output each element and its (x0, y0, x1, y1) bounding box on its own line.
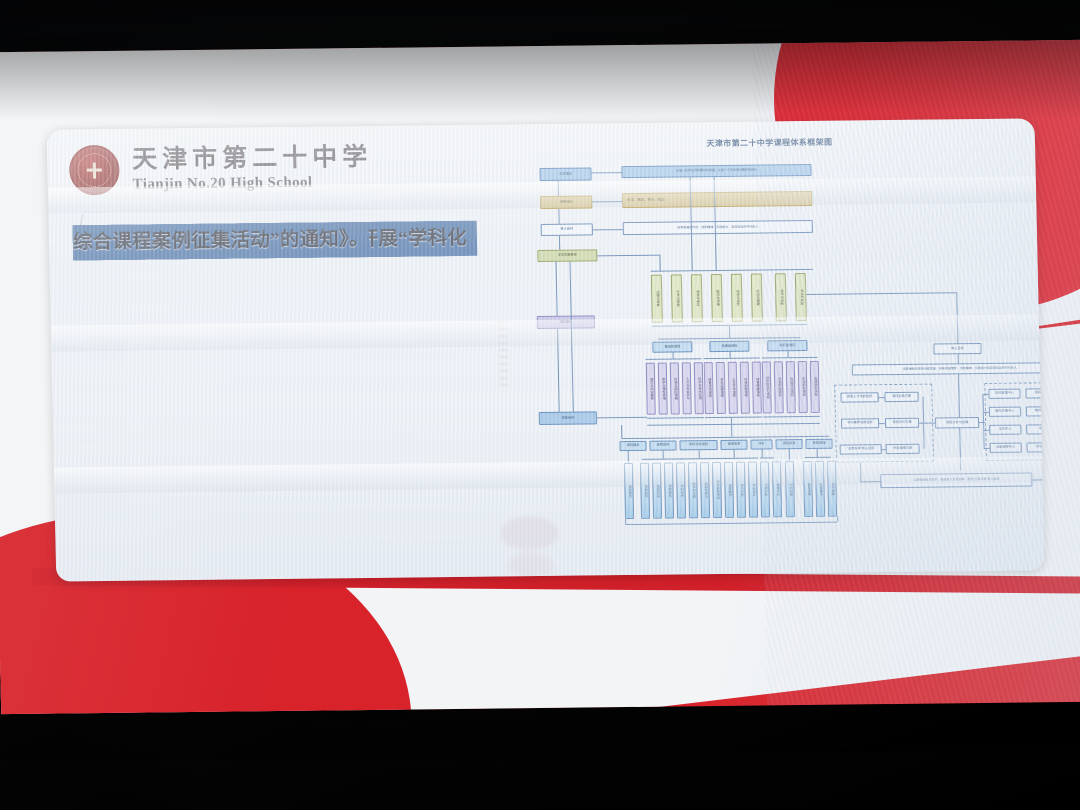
impl-header-3: 课堂变革 (720, 440, 747, 450)
impl-leaf-0-0: 课程理念 (624, 463, 634, 519)
impl-rail-4 (760, 457, 774, 458)
tier1-item-3: 科技创新课程 (740, 362, 750, 414)
rf-left-drop (860, 462, 861, 481)
tier2-item-3: 生涯规划课程 (798, 361, 808, 413)
impl-header-4: 评价 (750, 439, 772, 449)
pillar-3: 数学与思维 (711, 274, 723, 322)
impl-leaf-6-2: 条件保障 (827, 461, 837, 517)
pillar-1: 艺术与审美 (671, 274, 683, 322)
tier1-rail-bottom (705, 417, 762, 418)
rl-link-1 (879, 423, 885, 424)
slide-surface: 天津市第二十中学 Tianjin No.20 High School 学校： 1… (0, 40, 1080, 714)
link-spine5-impl (597, 417, 647, 418)
rr-link-1 (983, 412, 989, 413)
pillar-2: 语言与表达 (691, 274, 703, 322)
pillar-to-tiers (729, 325, 730, 338)
impl-leaf-6-0: 制度保障 (803, 461, 813, 517)
link-pillars-right (806, 292, 956, 294)
rr-to-center (979, 422, 985, 423)
spine-connector-1 (558, 209, 559, 224)
statement-2: 具有家国情怀的、创新精神、实践能力、自觉担当的时代新人 (623, 220, 813, 235)
impl-drop-1 (663, 451, 664, 459)
spine-node-2: 育人目标 (541, 223, 593, 236)
impl-header-rail-left (621, 425, 622, 438)
body-line-6: 综合课程案例征集活动”的通知》。 (73, 222, 369, 260)
tier-header-0: 基础型课程 (652, 341, 692, 352)
slide-body-text: 学校： 1. 升级版学校课程实施方案（参照统一模版）， 附课程体系框架图（文字说… (73, 220, 511, 225)
tier1-item-4: 体育健康课程 (752, 362, 762, 414)
pillar-4: 科学与探究 (731, 274, 743, 322)
impl-rail-drop (731, 417, 732, 437)
right-right-2-0: 学生中心 (989, 425, 1021, 435)
tier1-item-0: 德育活动课程 (704, 362, 714, 414)
right-left-1-0: 学科素养培养目标 (841, 418, 879, 428)
tier2-rail (762, 357, 818, 358)
tier2-item-4: 志愿服务课程 (810, 361, 820, 413)
link-pillars-right-down (956, 292, 958, 344)
right-right-0-0: 学校管理中心 (988, 389, 1020, 399)
school-brand: 天津市第二十中学 Tianjin No.20 High School (69, 142, 373, 195)
impl-drop-2 (699, 450, 700, 458)
right-left-0-0: 德育人才培养目标 (840, 392, 878, 402)
impl-rail-3 (724, 458, 758, 459)
school-name-cn: 天津市第二十中学 (132, 144, 373, 172)
rl-link-0 (879, 397, 885, 398)
impl-header-2: 学科综合课程 (679, 440, 717, 450)
spine-node-0: 办学理念 (539, 167, 591, 181)
impl-bottom-l (625, 519, 626, 524)
tier2-rail-bottom (763, 416, 820, 417)
spine-connector-2 (559, 236, 560, 250)
tier0-item-1: 数学与理性思维 (658, 363, 668, 415)
slide-content-card: 天津市第二十中学 Tianjin No.20 High School 学校： 1… (46, 118, 1044, 581)
right-left-2-1: 资源保障方案 (886, 444, 920, 454)
impl-leaf-2-3: 综合实践活动 (712, 462, 722, 518)
pillar-7: 社会与实践 (795, 273, 807, 321)
impl-leaf-5-0: 校内资源 (785, 461, 795, 517)
school-seal-icon (69, 145, 120, 196)
impl-rail-6 (805, 457, 831, 458)
impl-leaf-6-1: 队伍建设 (815, 461, 825, 517)
impl-drop-4 (762, 450, 763, 458)
impl-leaf-1-2: 课程结构 (664, 463, 674, 519)
right-statement: 培养德智体美劳全面发展、具有家国情怀、创新精神、实践能力和自觉担当的时代新人 (852, 362, 1045, 375)
right-right-3-0: 后勤保障中心 (990, 443, 1022, 453)
pillar-6: 技术与创新 (775, 273, 787, 321)
tier0-item-4: 科学与技术应用 (694, 362, 704, 414)
tier0-rail-bottom (647, 417, 704, 418)
curriculum-framework-diagram: 天津市第二十中学课程体系框架图 办学理念 培养目标 育人目标 学生发展目标 课程… (517, 129, 1031, 567)
impl-rail-bottom (625, 522, 837, 525)
school-name-block: 天津市第二十中学 Tianjin No.20 High School (132, 144, 373, 192)
impl-header-5: 课程资源 (775, 439, 802, 449)
tier2-item-1: 社会实践课程 (774, 361, 784, 413)
rl-link-2 (882, 449, 886, 450)
tier-header-2: 探究型课程 (767, 340, 807, 351)
spine-node-4: 课程理念 (537, 315, 595, 329)
impl-leaf-2-2: 项目化学习 (700, 462, 710, 518)
impl-leaf-2-1: 跨学科主题 (688, 462, 698, 518)
tier0-item-3: 人文与社会参与 (682, 362, 692, 414)
link-spine2-stmt2 (593, 229, 623, 230)
spine-node-3: 学生发展目标 (537, 249, 597, 262)
spine-connector-3 (555, 262, 557, 316)
impl-header-1: 课程目标 (649, 440, 676, 450)
statement-0: 让每一位学生得到最好的发展，让每一个学生成为最好的自己 (621, 164, 811, 178)
spine-connector-3b (569, 262, 573, 412)
impl-leaf-3-1: 学习方式 (736, 462, 746, 518)
impl-leaf-4-1: 增值评价 (772, 461, 782, 517)
impl-drop-3 (734, 450, 735, 458)
impl-leaf-3-0: 课堂教学 (724, 462, 734, 518)
link-spine3-pillars (597, 255, 659, 256)
link-spine1-stmt1 (592, 201, 622, 202)
right-footer: 以课程建设为抓手，推进育人方式变革，落实“五育并举”育人目标 (880, 472, 1032, 488)
right-right-1-0: 教师发展中心 (989, 407, 1021, 417)
tier-rail (658, 337, 800, 339)
tier0-item-0: 语文与阅读素养 (646, 363, 656, 415)
tier-header-1: 拓展型课程 (709, 341, 749, 352)
pillar-0: 品德与修养 (651, 275, 663, 323)
impl-rail-top (647, 423, 820, 426)
impl-leaf-4-0: 过程评价 (760, 461, 770, 517)
impl-drop-5 (789, 449, 790, 461)
link-spine0-stmt0 (592, 172, 622, 173)
rr-link-3 (984, 448, 990, 449)
impl-header-0: 课程理念 (619, 441, 646, 451)
right-center: 课程评价与保障 (935, 417, 979, 428)
impl-leaf-1-1: 课程内容 (652, 463, 662, 519)
school-name-en: Tianjin No.20 High School (133, 174, 373, 192)
pillar-rail (651, 269, 813, 271)
impl-header-6: 课程管理 (805, 439, 832, 449)
impl-leaf-1-0: 课程目标 (640, 463, 650, 519)
right-left-1-1: 课程评价方案 (885, 418, 919, 428)
tier2-item-2: 社团活动课程 (786, 361, 796, 413)
watermark-strip (498, 320, 509, 390)
rf-left-link (860, 481, 880, 482)
impl-rail-2 (678, 458, 726, 459)
link-spine3-down (659, 255, 660, 271)
tier1-item-1: 学科拓展课程 (716, 362, 726, 414)
spine-connector-4 (557, 329, 559, 412)
tier0-item-2: 外语与国际理解 (670, 362, 680, 414)
right-node-drop (958, 354, 959, 363)
spine-connector-0 (558, 181, 559, 196)
slide: 天津市第二十中学 Tianjin No.20 High School 学校： 1… (0, 40, 1080, 714)
tier1-item-2: 人文艺术课程 (728, 362, 738, 414)
impl-leaf-3-2: 作业设计 (748, 462, 758, 518)
right-node: 育人目标 (933, 343, 981, 355)
tier2-item-0: 研究性学习课程 (762, 361, 772, 413)
diagram-title: 天津市第二十中学课程体系框架图 (517, 137, 1022, 151)
right-left-2-0: “五育并举”育人目标 (840, 444, 882, 454)
impl-drop-6 (817, 449, 818, 457)
impl-bottom-r (837, 517, 838, 522)
rr-link-2 (983, 430, 989, 431)
projected-slide-photo: 天津市第二十中学 Tianjin No.20 High School 学校： 1… (0, 0, 1080, 810)
statement-1: 乐学、善思、笃行、致远 (622, 191, 812, 208)
tier0-rail (646, 358, 702, 359)
spine-node-1: 培养目标 (540, 195, 592, 209)
impl-drop-0 (628, 451, 629, 463)
spine-node-5: 课程目标 (539, 411, 597, 425)
pillar-5: 运动与健康 (751, 274, 763, 322)
impl-leaf-2-0: 学科综合 (676, 462, 686, 518)
rr-link-0 (982, 394, 988, 395)
right-left-0-1: 课程实施方案 (884, 392, 918, 402)
tier1-rail (704, 358, 760, 359)
